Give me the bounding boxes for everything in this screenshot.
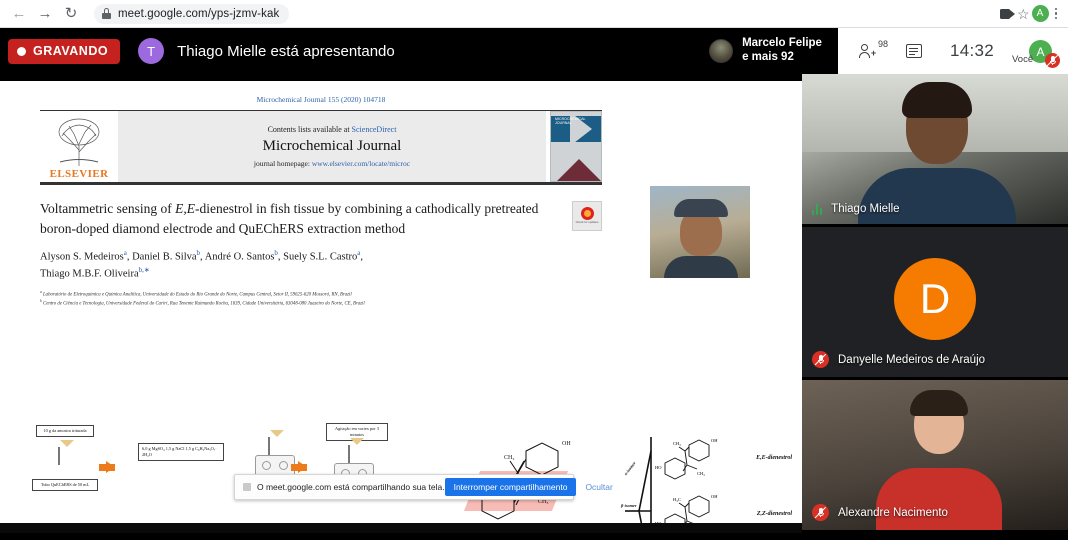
svg-text:CH₃: CH₃ <box>504 455 514 461</box>
title-italic: E,E <box>175 201 195 216</box>
url-text: meet.google.com/yps-jzmv-kak <box>118 8 279 20</box>
meet-favicon-icon <box>243 483 251 491</box>
meet-controls-panel: + 98 14:32 Você A <box>838 28 1068 74</box>
avatar: D <box>894 258 976 340</box>
tube-icon-1 <box>58 447 72 465</box>
homepage-link[interactable]: www.elsevier.com/locate/microc <box>312 159 410 168</box>
title-row: Voltammetric sensing of E,E-dienestrol i… <box>40 199 602 238</box>
presented-slide: Microchemical Journal 155 (2020) 104718 <box>0 81 802 533</box>
flow-reagents-label: 6,0 g MgSO₄ 1,5 g NaCl 1,5 g C₆H₅Na₃O₇· … <box>138 443 224 461</box>
journal-masthead-center: Contents lists available at ScienceDirec… <box>118 111 546 182</box>
masthead-rule <box>40 182 602 185</box>
participant-name: Thiago Mielle <box>831 203 899 215</box>
journal-article-page: Microchemical Journal 155 (2020) 104718 <box>40 95 602 308</box>
participant-tile-thiago[interactable]: Thiago Mielle <box>802 74 1068 224</box>
elsevier-logo: ELSEVIER <box>40 111 118 182</box>
share-toast-message: O meet.google.com está compartilhando su… <box>257 482 445 492</box>
screen-share-toast: O meet.google.com está compartilhando su… <box>234 474 574 500</box>
slide-bottom-edge <box>0 523 802 533</box>
journal-masthead: ELSEVIER Contents lists available at Sci… <box>40 110 602 182</box>
crossmark-badge[interactable]: Check for updates <box>572 201 602 231</box>
recording-badge: GRAVANDO <box>8 39 120 64</box>
participants-button[interactable]: + 98 <box>848 28 892 74</box>
flow-step1-bottom-label: Tubo QuEChERS de 50 mL <box>32 479 98 491</box>
beta-isomer-label: β-isomer <box>621 503 637 508</box>
forward-arrow-icon[interactable]: → <box>32 1 58 27</box>
participant-name: Alexandre Nacimento <box>838 507 948 519</box>
svg-text:OH: OH <box>562 441 571 447</box>
affiliations: a Laboratório de Eletroquímica e Química… <box>40 290 602 309</box>
affiliation-a: a Laboratório de Eletroquímica e Química… <box>40 290 602 299</box>
journal-cover-thumbnail: MICROCHEMICAL JOURNAL <box>546 111 602 182</box>
participant-name-row: Thiago Mielle <box>812 203 900 215</box>
participant-video-feed <box>802 74 1068 224</box>
title-part-1: Voltammetric sensing of <box>40 201 175 216</box>
homepage-prefix: journal homepage: <box>254 159 312 168</box>
crossmark-label: Check for updates <box>576 221 599 224</box>
crossmark-icon <box>581 207 594 220</box>
author-5: Thiago M.B.F. Oliveira <box>40 269 139 280</box>
author-3: , André O. Santos <box>200 252 274 263</box>
cover-title: MICROCHEMICAL JOURNAL <box>555 117 601 126</box>
address-bar[interactable]: meet.google.com/yps-jzmv-kak <box>94 4 289 24</box>
svg-text:H₃C: H₃C <box>673 497 681 502</box>
svg-text:CH₃: CH₃ <box>673 441 681 446</box>
contents-prefix: Contents lists available at <box>268 125 352 134</box>
isomer-1-name: E,E-dienestrol <box>756 455 792 461</box>
self-view-chip: Você A <box>1008 28 1064 74</box>
chrome-actions: ☆ A <box>1000 5 1068 22</box>
isomer-branch-tree: α-isomer β-isomer γ-isomer <box>625 433 653 533</box>
active-speaker-avatar <box>709 39 733 63</box>
svg-text:OH: OH <box>711 438 718 443</box>
back-arrow-icon[interactable]: ← <box>6 1 32 27</box>
journal-reference: Microchemical Journal 155 (2020) 104718 <box>40 95 602 104</box>
isomer-2-name: Z,Z-dienestrol <box>757 511 792 517</box>
branch-lines-svg <box>625 433 653 533</box>
meet-screen-share-window: ← → ↻ meet.google.com/yps-jzmv-kak ☆ A G… <box>0 0 1068 540</box>
author-list: Alyson S. Medeirosa, Daniel B. Silvab, A… <box>40 248 602 283</box>
active-speaker-chip: Marcelo Felipe e mais 92 <box>699 28 838 74</box>
contents-line: Contents lists available at ScienceDirec… <box>268 125 397 134</box>
tube-icon-2 <box>268 437 282 455</box>
tube-icon-3 <box>348 445 362 463</box>
elsevier-wordmark: ELSEVIER <box>50 168 109 180</box>
paper-title: Voltammetric sensing of E,E-dienestrol i… <box>40 199 560 238</box>
affiliation-b-text: Centro de Ciência e Tecnologia, Universi… <box>43 301 365 306</box>
stop-sharing-button[interactable]: Interromper compartilhamento <box>445 478 577 496</box>
author-4: , Suely S.L. Castro <box>278 252 357 263</box>
chat-button[interactable] <box>892 28 936 74</box>
presenter-avatar: T <box>138 38 164 64</box>
active-speaker-others: e mais 92 <box>742 51 822 65</box>
reload-icon[interactable]: ↻ <box>58 1 84 27</box>
flow-step1-top-label: 10 g da amostra triturada <box>36 425 94 437</box>
participant-tile-danyelle[interactable]: D Danyelle Medeiros de Araújo <box>802 227 1068 377</box>
recording-dot-icon <box>17 47 26 56</box>
lock-icon <box>102 8 111 19</box>
affiliation-a-text: Laboratório de Eletroquímica e Química A… <box>43 292 352 297</box>
svg-text:HO: HO <box>655 465 662 470</box>
journal-title: Microchemical Journal <box>263 138 402 155</box>
presenter-status: Thiago Mielle está apresentando <box>177 43 395 60</box>
svg-text:OH: OH <box>711 494 718 499</box>
mic-off-icon[interactable] <box>1045 53 1060 68</box>
meet-top-right-group: Marcelo Felipe e mais 92 + 98 14:32 Você <box>699 28 1068 74</box>
mic-off-icon <box>812 351 829 368</box>
meet-top-bar: GRAVANDO T Thiago Mielle está apresentan… <box>0 28 1068 74</box>
sciencedirect-link[interactable]: ScienceDirect <box>352 125 397 134</box>
kebab-menu-icon[interactable] <box>1051 8 1062 20</box>
flow-arrow-2-icon <box>298 461 307 473</box>
chat-icon <box>906 44 922 58</box>
affiliation-b: b Centro de Ciência e Tecnologia, Univer… <box>40 299 602 308</box>
isomer-1-structure: CH₃ OH CH₃ HO <box>655 437 725 489</box>
participant-name: Danyelle Medeiros de Araújo <box>838 354 985 366</box>
participants-rail: Thiago Mielle D Danyelle Medeiros de Ara… <box>802 74 1068 540</box>
svg-text:CH₃: CH₃ <box>697 471 705 476</box>
author-1: Alyson S. Medeiros <box>40 252 124 263</box>
hide-toast-link[interactable]: Ocultar <box>585 482 612 492</box>
participant-name-row: Danyelle Medeiros de Araújo <box>812 351 985 368</box>
star-icon[interactable]: ☆ <box>1017 7 1030 21</box>
homepage-line: journal homepage: www.elsevier.com/locat… <box>254 159 410 168</box>
audio-level-icon <box>812 203 822 215</box>
participant-tile-alexandre[interactable]: Alexandre Nacimento <box>802 380 1068 530</box>
flow-arrow-1-icon <box>106 461 115 473</box>
participants-count: 98 <box>878 39 888 49</box>
mic-off-icon <box>812 504 829 521</box>
self-label: Você <box>1012 54 1033 65</box>
active-speaker-name: Marcelo Felipe <box>742 37 822 51</box>
browser-toolbar: ← → ↻ meet.google.com/yps-jzmv-kak ☆ A <box>0 0 1068 28</box>
author-2: , Daniel B. Silva <box>127 252 197 263</box>
camera-icon[interactable] <box>1000 9 1015 19</box>
shared-screen-stage[interactable]: Microchemical Journal 155 (2020) 104718 <box>0 74 802 540</box>
recording-label: GRAVANDO <box>33 44 108 58</box>
elsevier-tree-icon <box>50 116 108 168</box>
clock-label: 14:32 <box>936 41 1008 61</box>
browser-profile-avatar[interactable]: A <box>1032 5 1049 22</box>
presenter-photo-inset <box>650 186 750 278</box>
participant-name-row: Alexandre Nacimento <box>812 504 948 521</box>
